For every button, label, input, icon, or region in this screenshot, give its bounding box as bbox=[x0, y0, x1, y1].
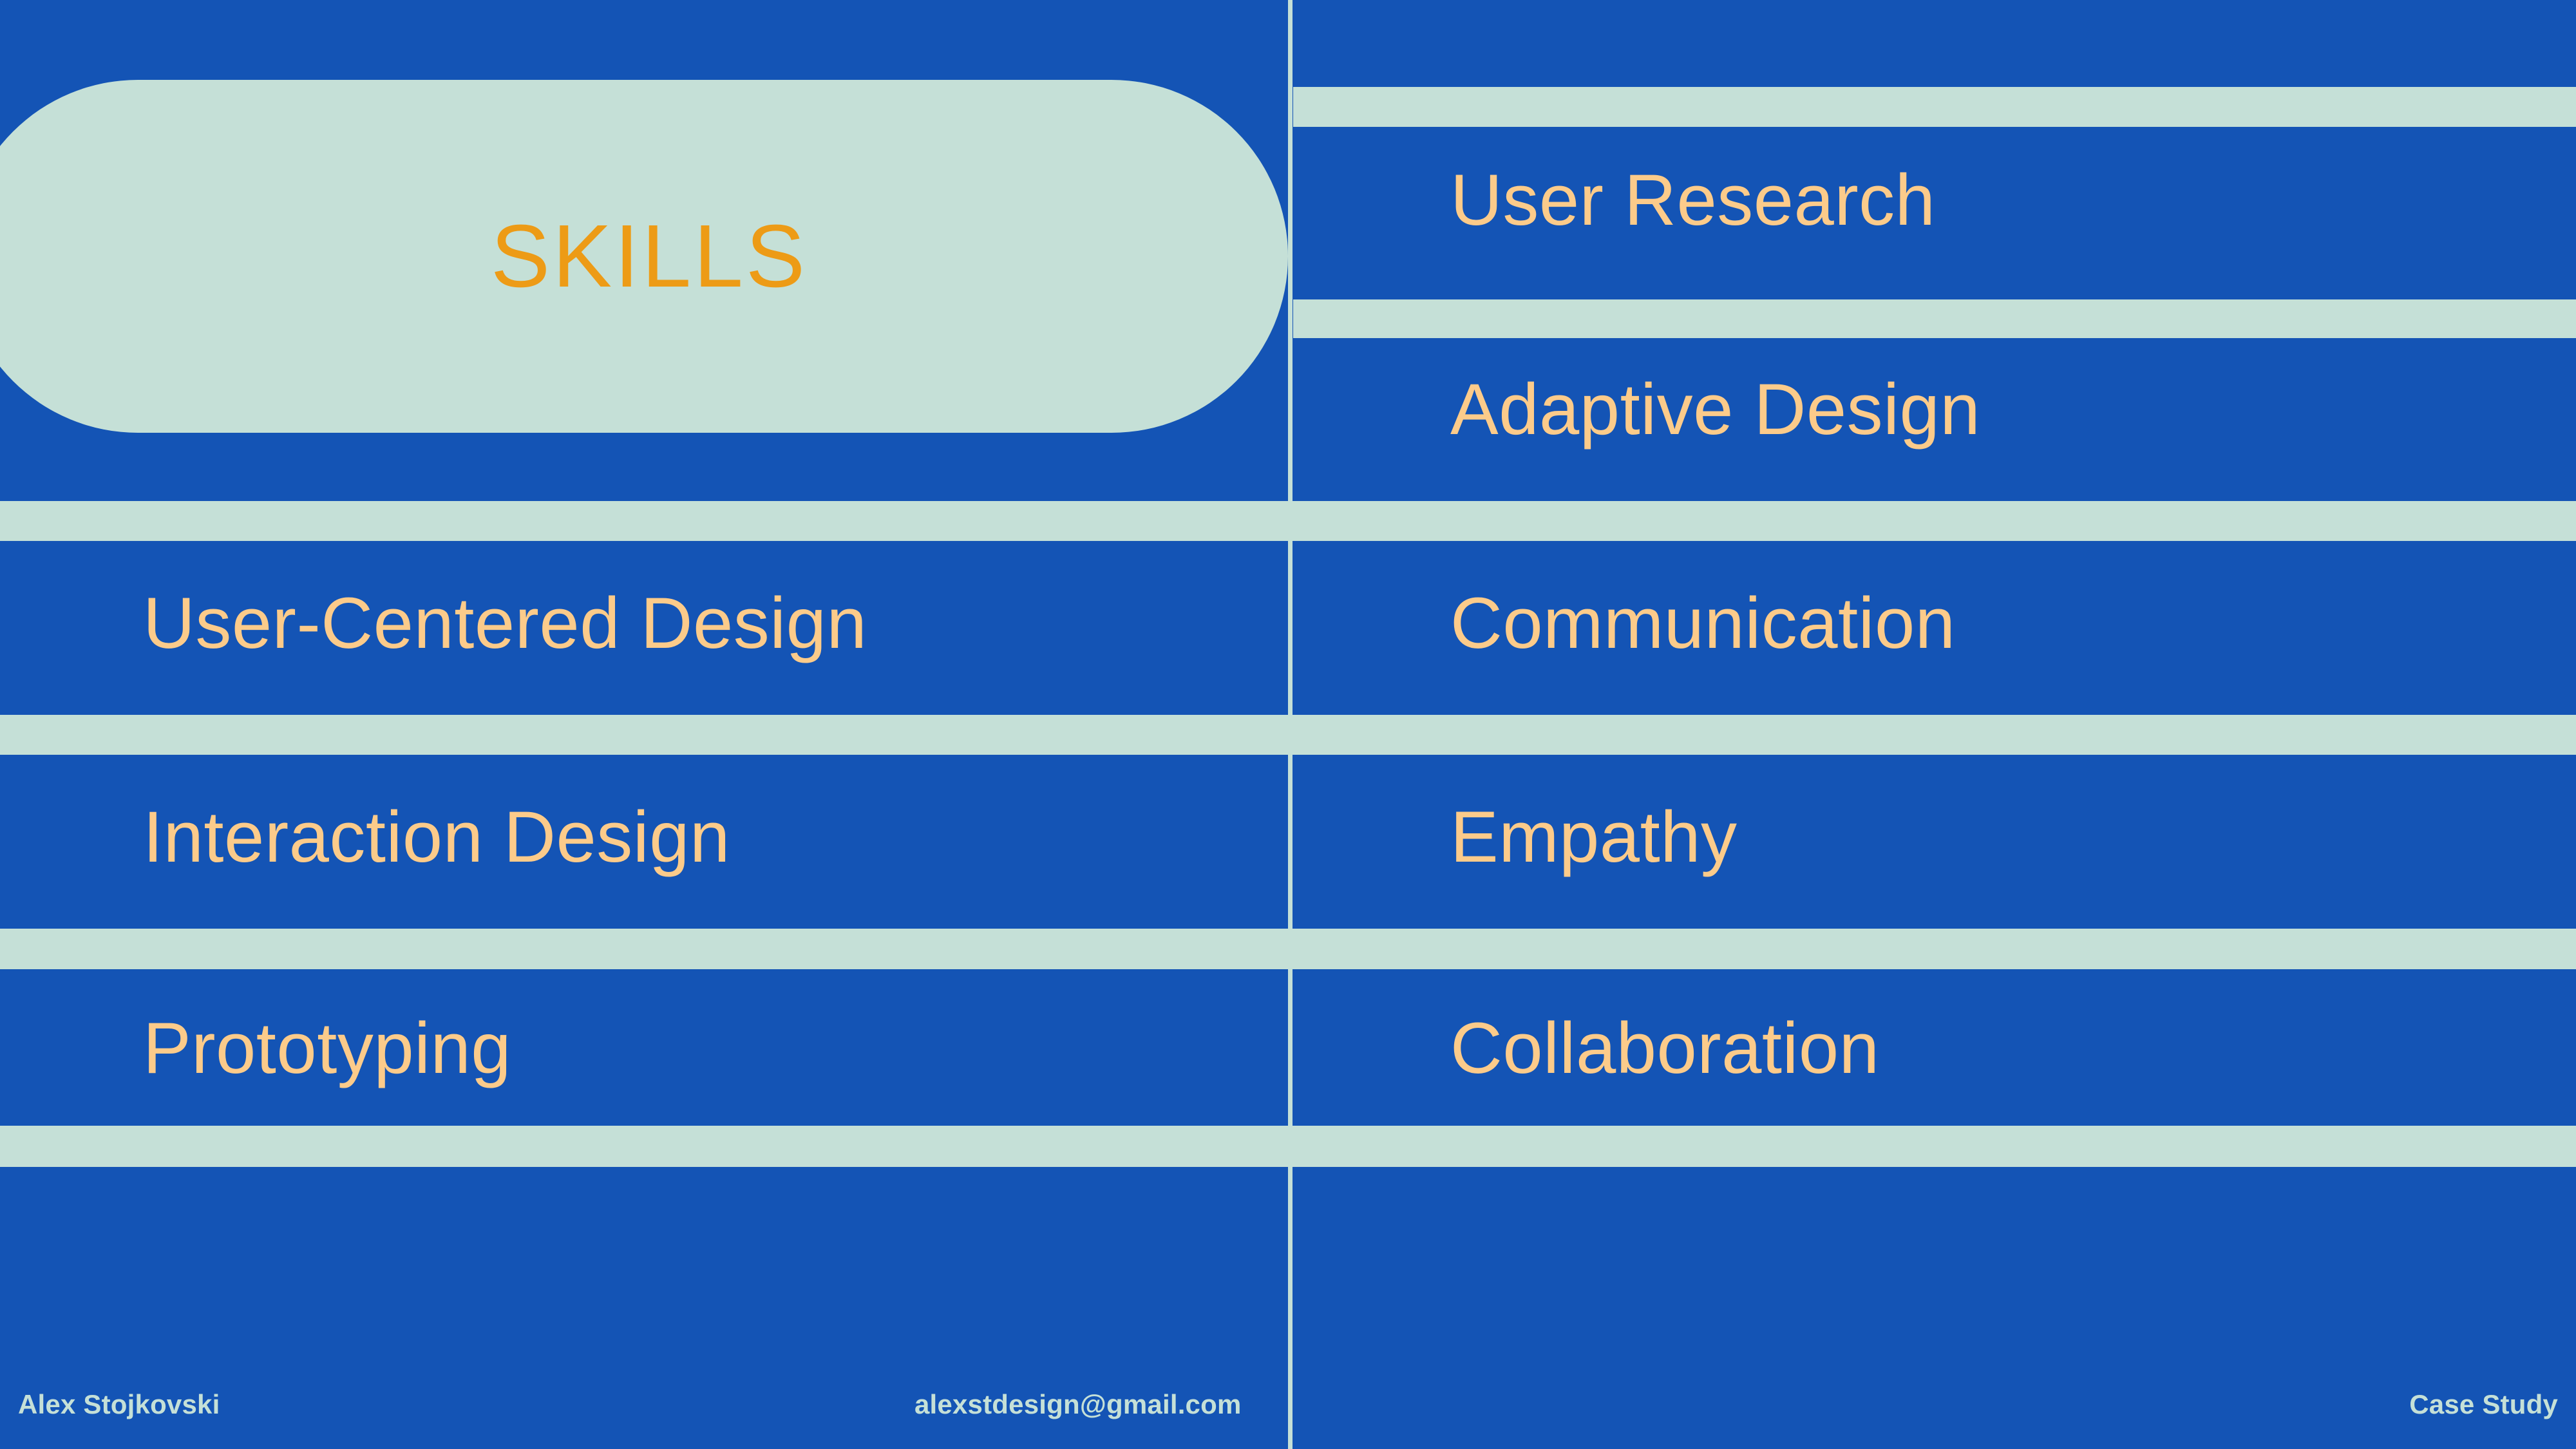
skill-item-user-research: User Research bbox=[1450, 164, 1935, 236]
mint-separator-band-right-2 bbox=[1293, 299, 2576, 338]
footer-author-name: Alex Stojkovski bbox=[18, 1391, 220, 1418]
page-title: SKILLS bbox=[491, 212, 808, 301]
skill-label: Collaboration bbox=[1450, 1012, 1879, 1084]
skill-item-communication: Communication bbox=[1450, 587, 1956, 659]
skill-label: Interaction Design bbox=[143, 801, 730, 873]
column-divider bbox=[1288, 0, 1293, 1449]
skill-item-interaction-design: Interaction Design bbox=[143, 801, 730, 873]
footer-case-study-label: Case Study bbox=[2409, 1391, 2558, 1418]
slide-canvas: SKILLS User-Centered Design Interaction … bbox=[0, 0, 2576, 1449]
skill-label: Prototyping bbox=[143, 1012, 511, 1084]
skill-item-adaptive-design: Adaptive Design bbox=[1450, 374, 1980, 446]
skill-item-prototyping: Prototyping bbox=[143, 1012, 511, 1084]
footer-email[interactable]: alexstdesign@gmail.com bbox=[914, 1391, 1242, 1418]
skill-item-collaboration: Collaboration bbox=[1450, 1012, 1879, 1084]
skill-label: Communication bbox=[1450, 587, 1956, 659]
skill-item-empathy: Empathy bbox=[1450, 801, 1737, 873]
skill-label: Empathy bbox=[1450, 801, 1737, 873]
skills-title-pill: SKILLS bbox=[0, 80, 1288, 433]
skill-item-user-centered-design: User-Centered Design bbox=[143, 587, 867, 659]
skill-label: User Research bbox=[1450, 164, 1935, 236]
skill-label: Adaptive Design bbox=[1450, 374, 1980, 446]
skill-label: User-Centered Design bbox=[143, 587, 867, 659]
mint-separator-band-right-1 bbox=[1293, 87, 2576, 127]
